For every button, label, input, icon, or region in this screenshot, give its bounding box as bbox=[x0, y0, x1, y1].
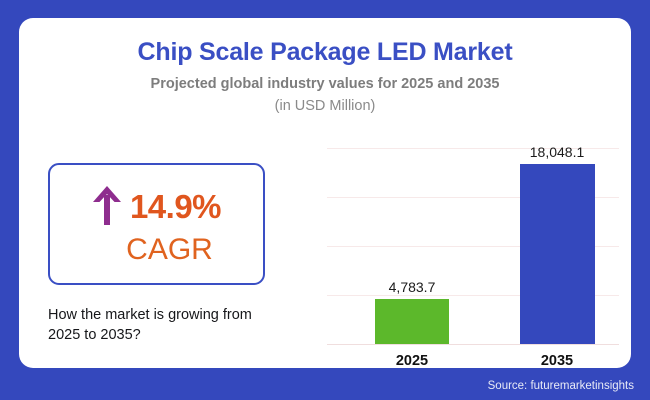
category-label-2025: 2025 bbox=[352, 353, 472, 369]
growth-description: How the market is growing from 2025 to 2… bbox=[48, 306, 288, 345]
content-card: Chip Scale Package LED Market Projected … bbox=[19, 18, 631, 368]
arrow-up-icon bbox=[92, 185, 122, 227]
bar-value-2035: 18,048.1 bbox=[497, 144, 617, 160]
cagr-box: 14.9% CAGR bbox=[48, 163, 265, 285]
source-credit: Source: futuremarketinsights bbox=[488, 380, 634, 392]
cagr-value: 14.9% bbox=[130, 190, 221, 223]
page-title: Chip Scale Package LED Market bbox=[19, 38, 631, 67]
page-units: (in USD Million) bbox=[19, 98, 631, 114]
bar-value-2025: 4,783.7 bbox=[352, 279, 472, 295]
cagr-value-row: 14.9% bbox=[50, 185, 263, 227]
plot-area: 4,783.7 18,048.1 2025 2035 bbox=[327, 148, 619, 345]
bar-chart: 4,783.7 18,048.1 2025 2035 bbox=[309, 128, 621, 360]
infographic-root: Chip Scale Package LED Market Projected … bbox=[0, 0, 650, 400]
page-subtitle: Projected global industry values for 202… bbox=[19, 76, 631, 92]
cagr-label: CAGR bbox=[50, 235, 263, 265]
bar-2025 bbox=[375, 299, 449, 344]
bar-2035 bbox=[520, 164, 595, 344]
x-axis-line bbox=[327, 344, 619, 345]
category-label-2035: 2035 bbox=[497, 353, 617, 369]
